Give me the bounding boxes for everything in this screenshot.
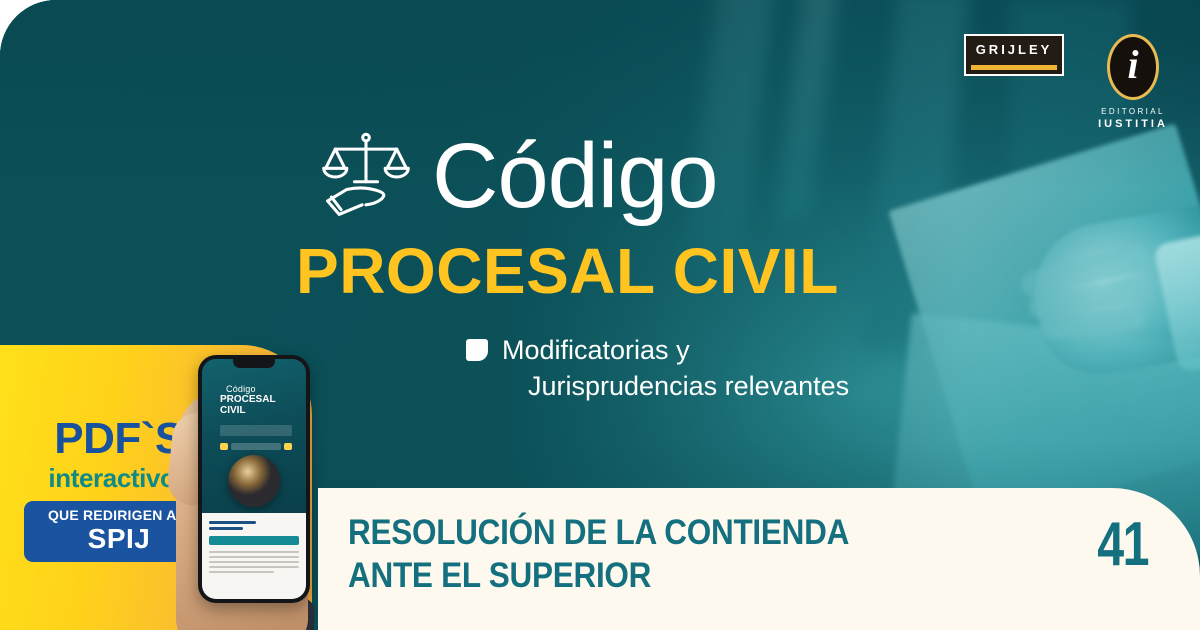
white-square-bullet-icon [466,339,488,361]
phone-cover-title-block: Código PROCESAL CIVIL [212,385,298,416]
publisher-logos: GRIJLEY i EDITORIAL IUSTITIA [964,34,1172,130]
hero-tagline-text: Modificatorias y Jurisprudencias relevan… [502,333,849,404]
hero-tagline-line1: Modificatorias y [502,335,690,365]
footer-title-line1: RESOLUCIÓN DE LA CONTIENDA [348,512,924,555]
phone-screen: Código PROCESAL CIVIL [202,359,306,599]
banner-canvas: GRIJLEY i EDITORIAL IUSTITIA [0,0,1200,630]
phone-cover-title: Código [226,385,298,394]
phone-cover-chip-row [220,443,292,450]
promo-panel: PDF`S interactivos QUE REDIRIGEN AL: SPI… [0,345,312,630]
grijley-logo[interactable]: GRIJLEY [964,34,1064,76]
iustitia-label-iustitia: IUSTITIA [1098,118,1168,130]
hero-subtitle: PROCESAL CIVIL [296,238,958,305]
phone-cover-subtitle: PROCESAL CIVIL [220,395,298,416]
phone-cover-emblem [228,455,280,507]
iustitia-monogram: i [1127,45,1138,85]
iustitia-label-editorial: EDITORIAL [1101,107,1165,116]
spij-badge-bottom-label: SPIJ [88,525,151,553]
hero-title: Código [432,131,718,221]
hero-title-row: Código [318,128,958,224]
hero-tagline-line2: Jurisprudencias relevantes [528,369,849,405]
hero-tagline: Modificatorias y Jurisprudencias relevan… [466,333,958,404]
smartphone-device: Código PROCESAL CIVIL [198,355,310,603]
phone-notch [233,359,275,368]
iustitia-logo[interactable]: i EDITORIAL IUSTITIA [1094,34,1172,130]
grijley-gold-bar [971,65,1057,70]
grijley-wordmark: GRIJLEY [976,43,1053,56]
footer-title: RESOLUCIÓN DE LA CONTIENDA ANTE EL SUPER… [348,512,924,597]
footer-panel: RESOLUCIÓN DE LA CONTIENDA ANTE EL SUPER… [318,488,1200,630]
footer-number: 41 [1097,514,1148,576]
phone-cover-tagline-bar [220,425,292,436]
phone-document-body [202,513,306,599]
hero-title-block: Código PROCESAL CIVIL Modificatorias y J… [318,128,958,404]
hand-holding-smartphone-icon: Código PROCESAL CIVIL [168,327,338,630]
footer-title-line2: ANTE EL SUPERIOR [348,555,924,598]
iustitia-oval-icon: i [1107,34,1159,100]
scales-of-justice-on-hand-icon [318,128,414,224]
